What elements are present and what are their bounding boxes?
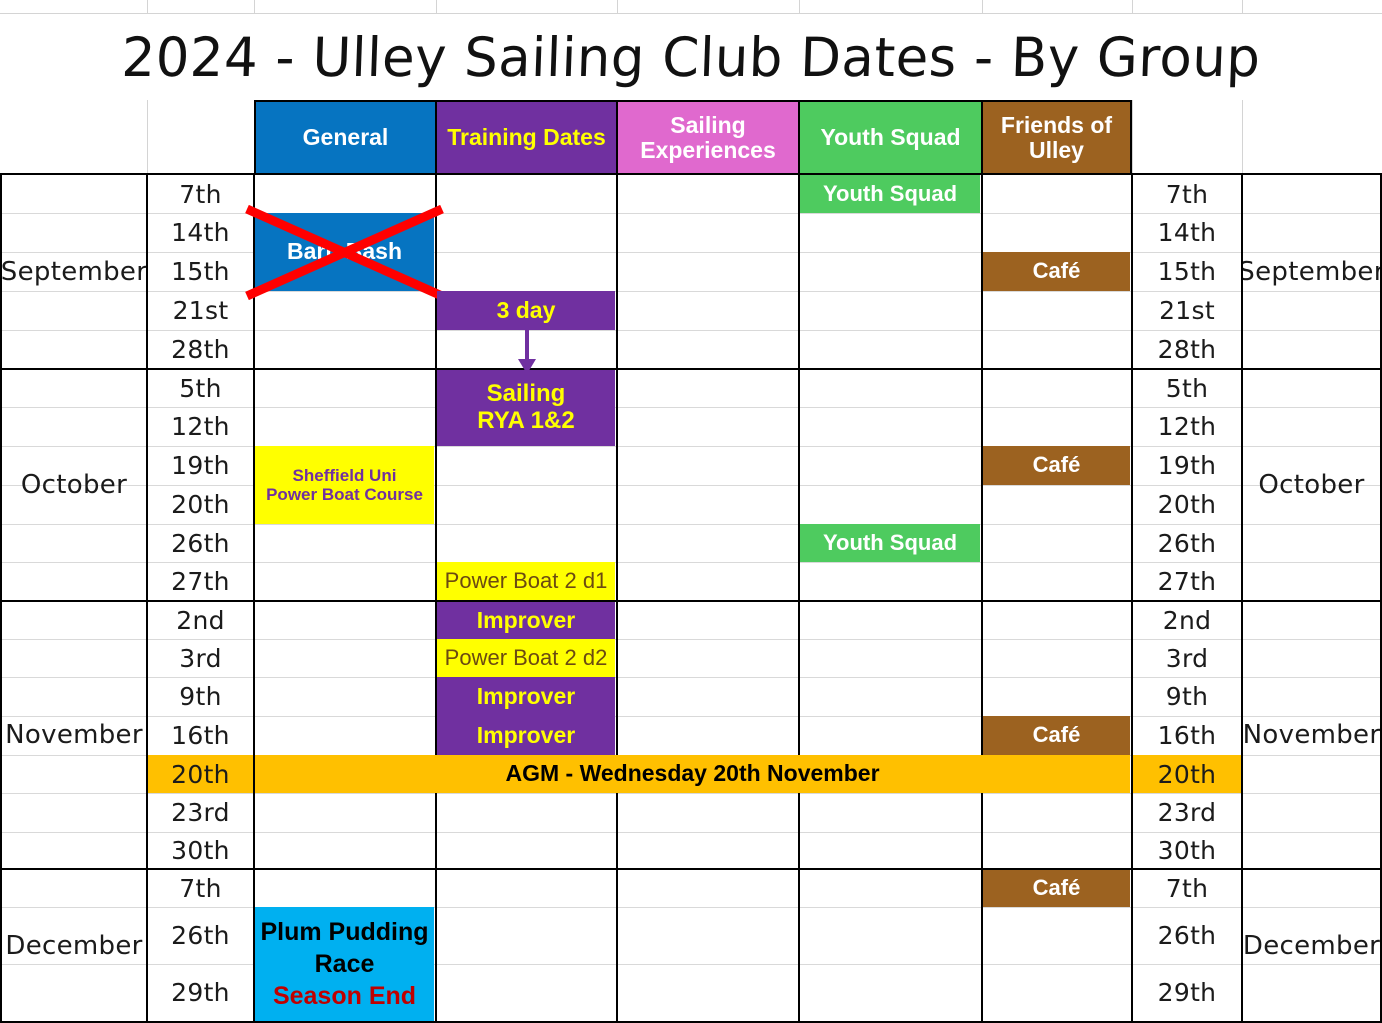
date-cell-sep-7th: 7th [148, 175, 253, 213]
header-blank-left-month [0, 100, 147, 175]
header-training-dates-label: Training Dates [447, 125, 605, 150]
event-youth-squad-september-label: Youth Squad [823, 182, 957, 207]
event-improver-16th-label: Improver [477, 723, 575, 749]
header-general: General [254, 100, 436, 175]
date-cell-dec-7th-right: 7th [1133, 870, 1241, 907]
event-cafe-september[interactable]: Café [983, 252, 1130, 291]
month-label-september-left: September [2, 175, 146, 368]
date-cell-nov-30th: 30th [148, 832, 253, 868]
event-improver-9th-label: Improver [477, 684, 575, 710]
date-cell-nov-23rd: 23rd [148, 793, 253, 832]
date-cell-oct-27th: 27th [148, 562, 253, 600]
event-improver-2nd[interactable]: Improver [437, 602, 615, 639]
date-cell-sep-15th: 15th [148, 252, 253, 291]
event-cafe-december[interactable]: Café [983, 870, 1130, 907]
event-cafe-october[interactable]: Café [983, 446, 1130, 485]
month-label-september-right: September [1243, 175, 1380, 368]
page-title-text: 2024 - Ulley Sailing Club Dates - By Gro… [120, 26, 1261, 89]
date-cell-oct-5th: 5th [148, 370, 253, 407]
date-cell-oct-19th-right: 19th [1133, 446, 1241, 485]
date-cell-sep-21st: 21st [148, 291, 253, 330]
header-sailing-experiences-label: Sailing Experiences [620, 113, 796, 163]
date-cell-oct-20th-right: 20th [1133, 485, 1241, 524]
month-name-october: October [21, 470, 127, 500]
event-agm-banner[interactable]: AGM - Wednesday 20th November [255, 755, 1130, 793]
event-sailing-rya-line1: Sailing [487, 381, 566, 408]
month-label-november-right: November [1243, 602, 1380, 868]
event-plum-pudding-line2: Race [315, 950, 375, 978]
date-cell-oct-19th: 19th [148, 446, 253, 485]
event-sailing-rya-line2: RYA 1&2 [477, 408, 574, 435]
event-power-boat-2-d1[interactable]: Power Boat 2 d1 [437, 562, 615, 600]
header-blank-left-date [147, 100, 254, 175]
event-3-day[interactable]: 3 day [437, 291, 615, 330]
date-cell-oct-26th: 26th [148, 524, 253, 562]
date-cell-sep-21st-right: 21st [1133, 291, 1241, 330]
month-name-december: December [5, 931, 142, 961]
event-3-day-label: 3 day [497, 298, 556, 324]
event-sailing-rya[interactable]: Sailing RYA 1&2 [437, 370, 615, 446]
event-sheffield-uni-power-boat[interactable]: Sheffield Uni Power Boat Course [255, 446, 434, 524]
month-label-november-left: November [2, 602, 146, 868]
date-cell-nov-16th: 16th [148, 716, 253, 755]
event-cafe-december-label: Café [1033, 876, 1081, 901]
group-header-row: General Training Dates Sailing Experienc… [0, 100, 1382, 175]
date-cell-dec-26th-right: 26th [1133, 907, 1241, 964]
event-improver-16th[interactable]: Improver [437, 716, 615, 755]
event-plum-pudding-line1: Plum Pudding [260, 918, 428, 946]
date-cell-nov-3rd: 3rd [148, 639, 253, 677]
event-sheffield-uni-line2: Power Boat Course [266, 485, 423, 504]
date-cell-sep-15th-right: 15th [1133, 252, 1241, 291]
calendar-sheet: 2024 - Ulley Sailing Club Dates - By Gro… [0, 0, 1382, 1023]
header-friends-of-ulley: Friends of Ulley [982, 100, 1132, 175]
date-cell-oct-27th-right: 27th [1133, 562, 1241, 600]
event-youth-squad-october[interactable]: Youth Squad [800, 524, 980, 562]
date-cell-sep-28th: 28th [148, 330, 253, 368]
header-blank-right-date [1132, 100, 1242, 175]
date-cell-nov-23rd-right: 23rd [1133, 793, 1241, 832]
event-improver-2nd-label: Improver [477, 608, 575, 634]
month-label-december-right: December [1243, 870, 1380, 1021]
date-cell-oct-20th: 20th [148, 485, 253, 524]
date-cell-oct-26th-right: 26th [1133, 524, 1241, 562]
date-cell-oct-5th-right: 5th [1133, 370, 1241, 407]
date-cell-sep-14th: 14th [148, 213, 253, 252]
date-cell-nov-20th: 20th [148, 755, 253, 793]
date-cell-nov-2nd-right: 2nd [1133, 602, 1241, 639]
event-improver-9th[interactable]: Improver [437, 677, 615, 716]
date-cell-sep-7th-right: 7th [1133, 175, 1241, 213]
spreadsheet-grid-strip [0, 0, 1382, 14]
month-name-november: November [5, 720, 143, 750]
date-cell-nov-9th: 9th [148, 677, 253, 716]
event-barn-bash[interactable]: Barn Bash [255, 213, 434, 291]
event-barn-bash-label: Barn Bash [287, 239, 402, 265]
header-blank-right-month [1242, 100, 1382, 175]
event-youth-squad-october-label: Youth Squad [823, 531, 957, 556]
date-cell-dec-29th: 29th [148, 964, 253, 1021]
event-cafe-september-label: Café [1033, 259, 1081, 284]
header-friends-of-ulley-label: Friends of Ulley [985, 113, 1128, 163]
date-cell-dec-7th: 7th [148, 870, 253, 907]
month-name-september: September [2, 257, 146, 287]
month-label-october-right: October [1243, 370, 1380, 600]
header-general-label: General [303, 125, 389, 150]
header-youth-squad-label: Youth Squad [820, 125, 960, 150]
event-sheffield-uni-line1: Sheffield Uni [293, 466, 397, 485]
date-cell-sep-28th-right: 28th [1133, 330, 1241, 368]
date-cell-dec-29th-right: 29th [1133, 964, 1241, 1021]
header-training-dates: Training Dates [436, 100, 617, 175]
event-power-boat-2-d1-label: Power Boat 2 d1 [445, 569, 608, 594]
month-label-october-left: October [2, 370, 146, 600]
header-youth-squad: Youth Squad [799, 100, 982, 175]
date-cell-nov-3rd-right: 3rd [1133, 639, 1241, 677]
event-power-boat-2-d2-label: Power Boat 2 d2 [445, 646, 608, 671]
date-cell-nov-20th-right: 20th [1133, 755, 1241, 793]
event-youth-squad-september[interactable]: Youth Squad [800, 175, 980, 213]
event-agm-label: AGM - Wednesday 20th November [505, 761, 879, 787]
event-season-end-label: Season End [273, 982, 416, 1010]
calendar-grid: September 7th 14th 15th 21st 28th Barn B… [0, 175, 1382, 1023]
event-cafe-november[interactable]: Café [983, 716, 1130, 755]
date-cell-oct-12th: 12th [148, 407, 253, 446]
event-cafe-november-label: Café [1033, 723, 1081, 748]
event-power-boat-2-d2[interactable]: Power Boat 2 d2 [437, 639, 615, 677]
date-cell-nov-30th-right: 30th [1133, 832, 1241, 868]
date-cell-nov-2nd: 2nd [148, 602, 253, 639]
date-cell-nov-16th-right: 16th [1133, 716, 1241, 755]
event-cafe-october-label: Café [1033, 453, 1081, 478]
date-cell-dec-26th: 26th [148, 907, 253, 964]
date-cell-nov-9th-right: 9th [1133, 677, 1241, 716]
date-cell-oct-12th-right: 12th [1133, 407, 1241, 446]
date-cell-sep-14th-right: 14th [1133, 213, 1241, 252]
event-plum-pudding-race[interactable]: Plum Pudding Race Season End [255, 907, 434, 1021]
header-sailing-experiences: Sailing Experiences [617, 100, 799, 175]
month-label-december-left: December [2, 870, 146, 1021]
page-title: 2024 - Ulley Sailing Club Dates - By Gro… [0, 14, 1382, 100]
